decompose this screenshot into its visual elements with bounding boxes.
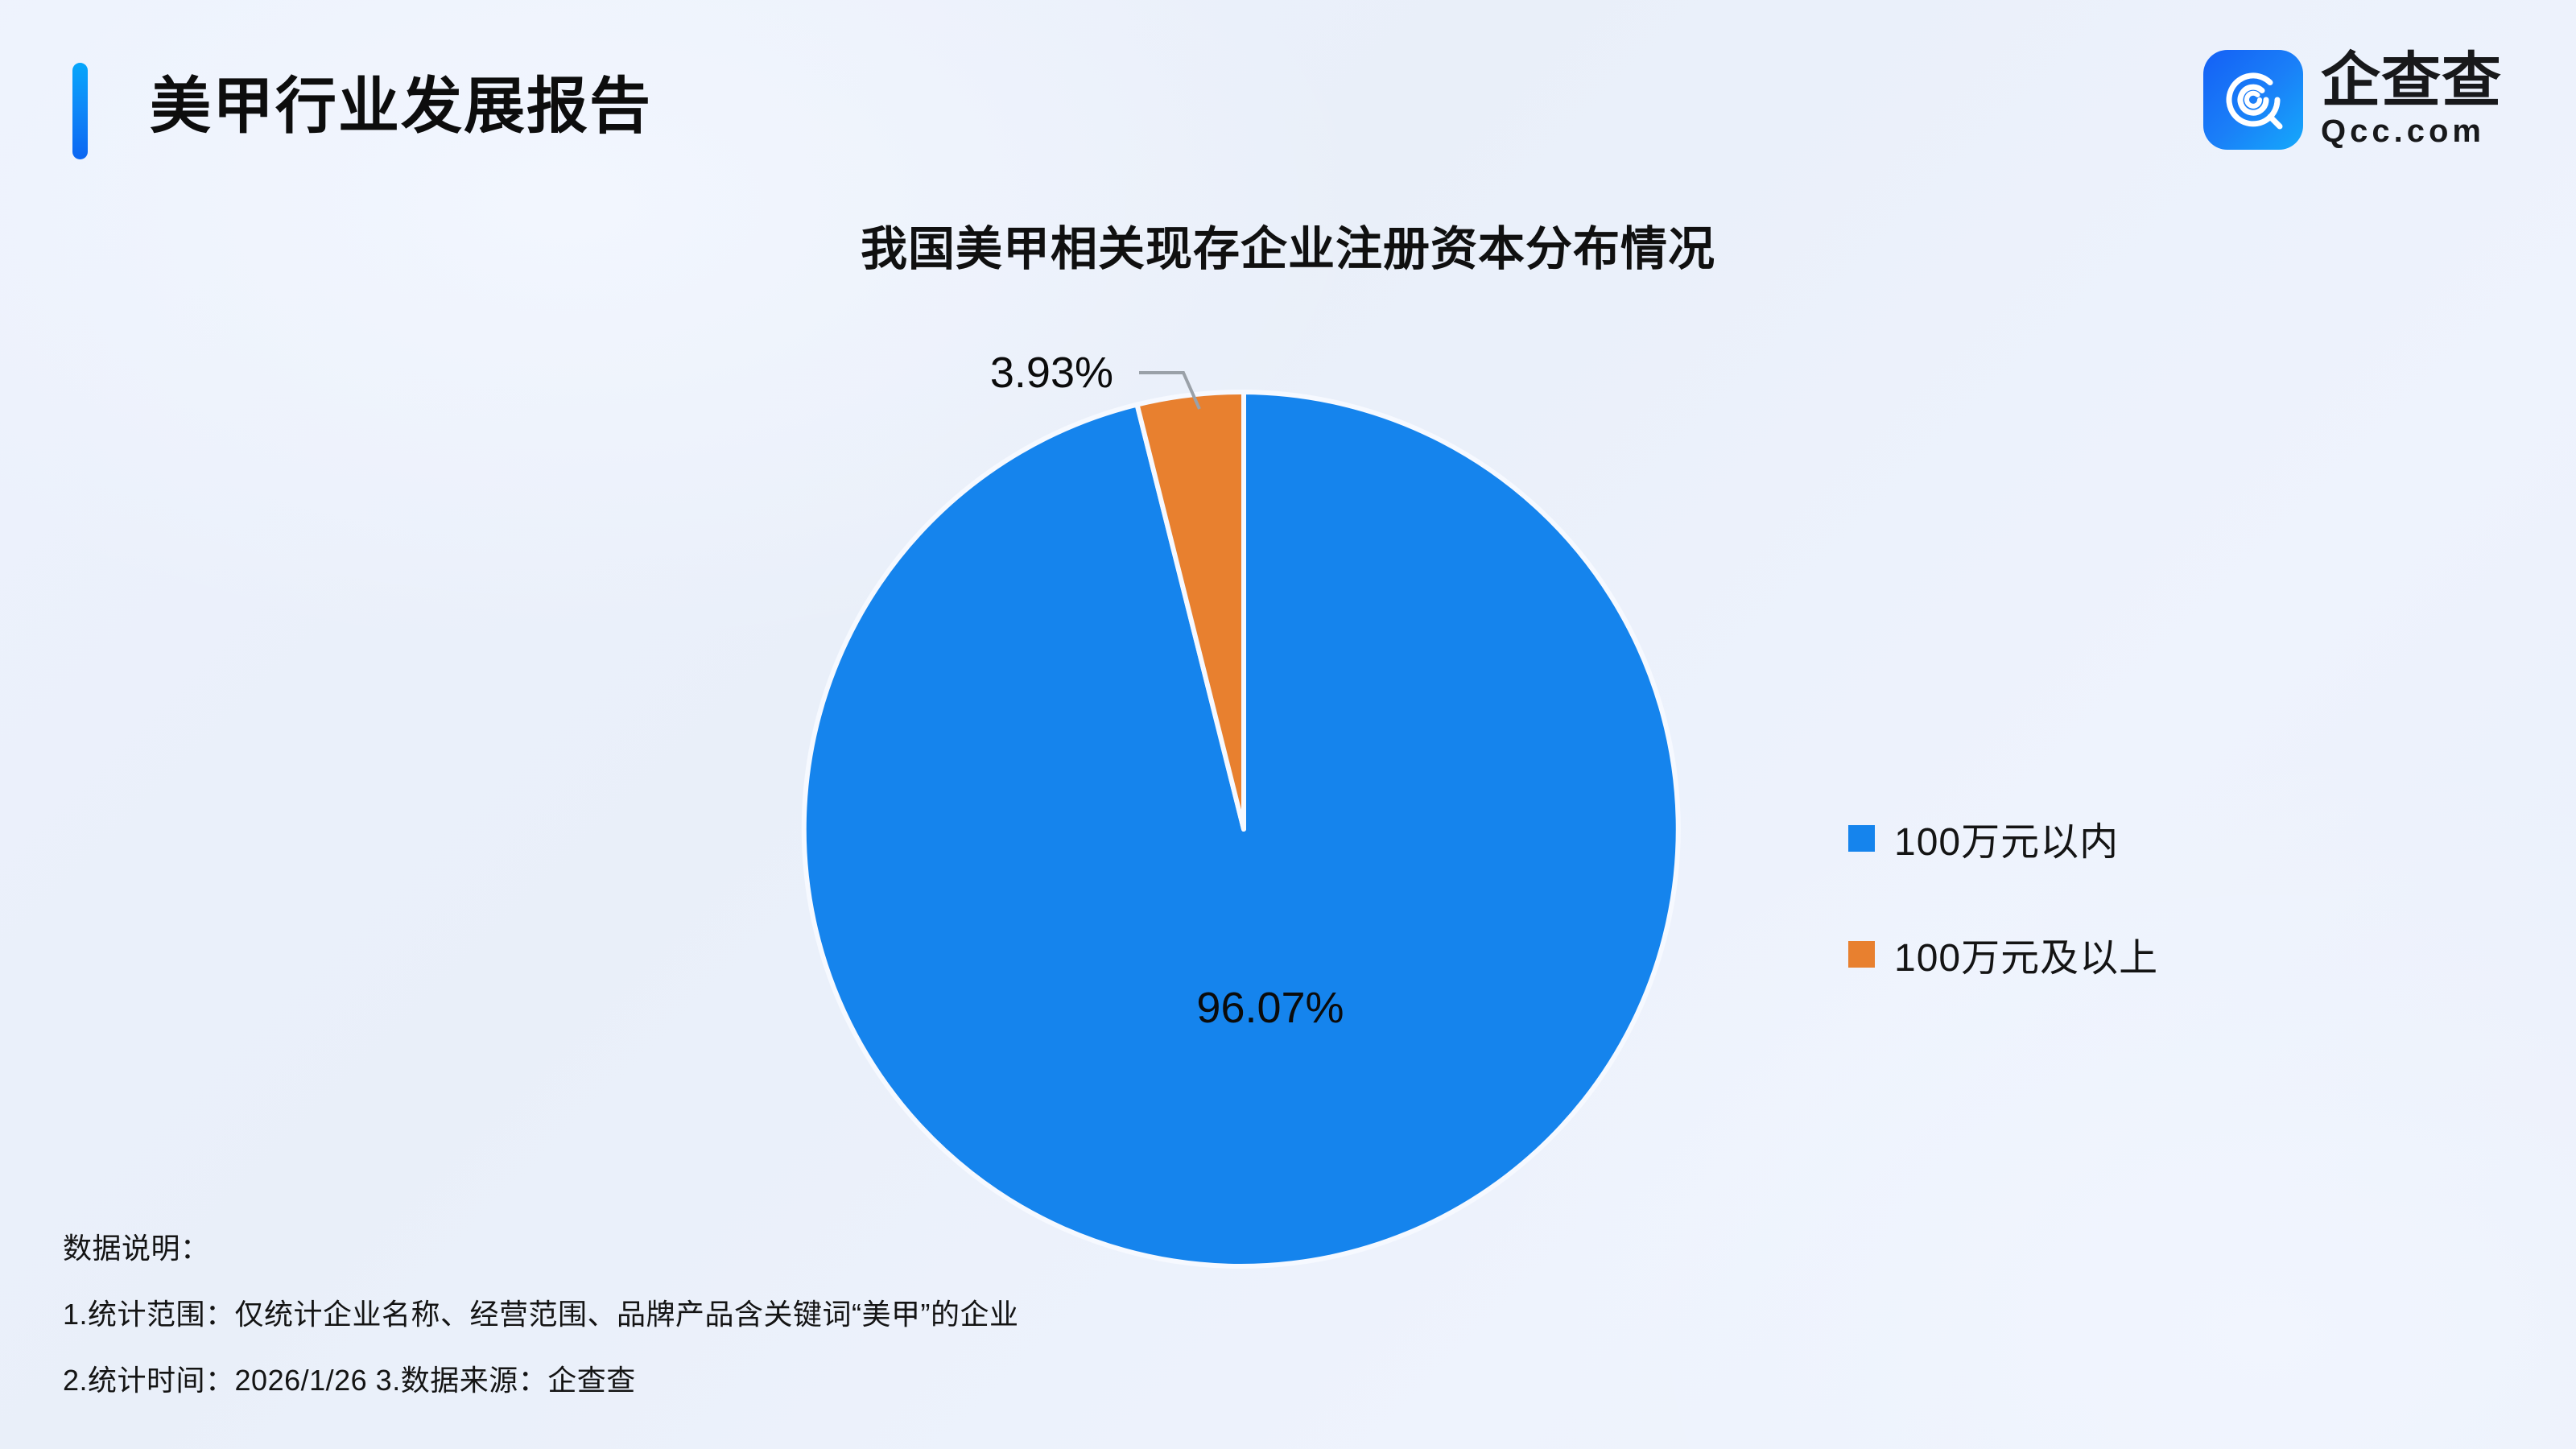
report-page: 美甲行业发展报告 企查查 Qcc.com 我国美甲相关现存企业注册资本分布情况 <box>0 0 2576 1449</box>
footnote-scope: 1.统计范围：仅统计企业名称、经营范围、品牌产品含关键词“美甲”的企业 <box>63 1291 1019 1333</box>
slice-label-outer: 3.93% <box>990 349 1113 397</box>
footnote-date-source: 2.统计时间：2026/1/26 3.数据来源：企查查 <box>63 1357 1019 1399</box>
footnotes: 数据说明： 1.统计范围：仅统计企业名称、经营范围、品牌产品含关键词“美甲”的企… <box>63 1225 1019 1399</box>
legend-swatch-orange <box>1848 941 1875 968</box>
legend-swatch-blue <box>1848 825 1875 852</box>
legend-item-above-1m[interactable]: 100万元及以上 <box>1848 926 2158 982</box>
slice-label-inner: 96.07% <box>1196 984 1344 1032</box>
legend-item-within-1m[interactable]: 100万元以内 <box>1848 810 2158 866</box>
chart-legend: 100万元以内 100万元及以上 <box>1848 810 2158 982</box>
footnote-heading: 数据说明： <box>63 1225 1019 1267</box>
legend-label-within-1m: 100万元以内 <box>1894 810 2119 866</box>
legend-label-above-1m: 100万元及以上 <box>1894 926 2158 982</box>
